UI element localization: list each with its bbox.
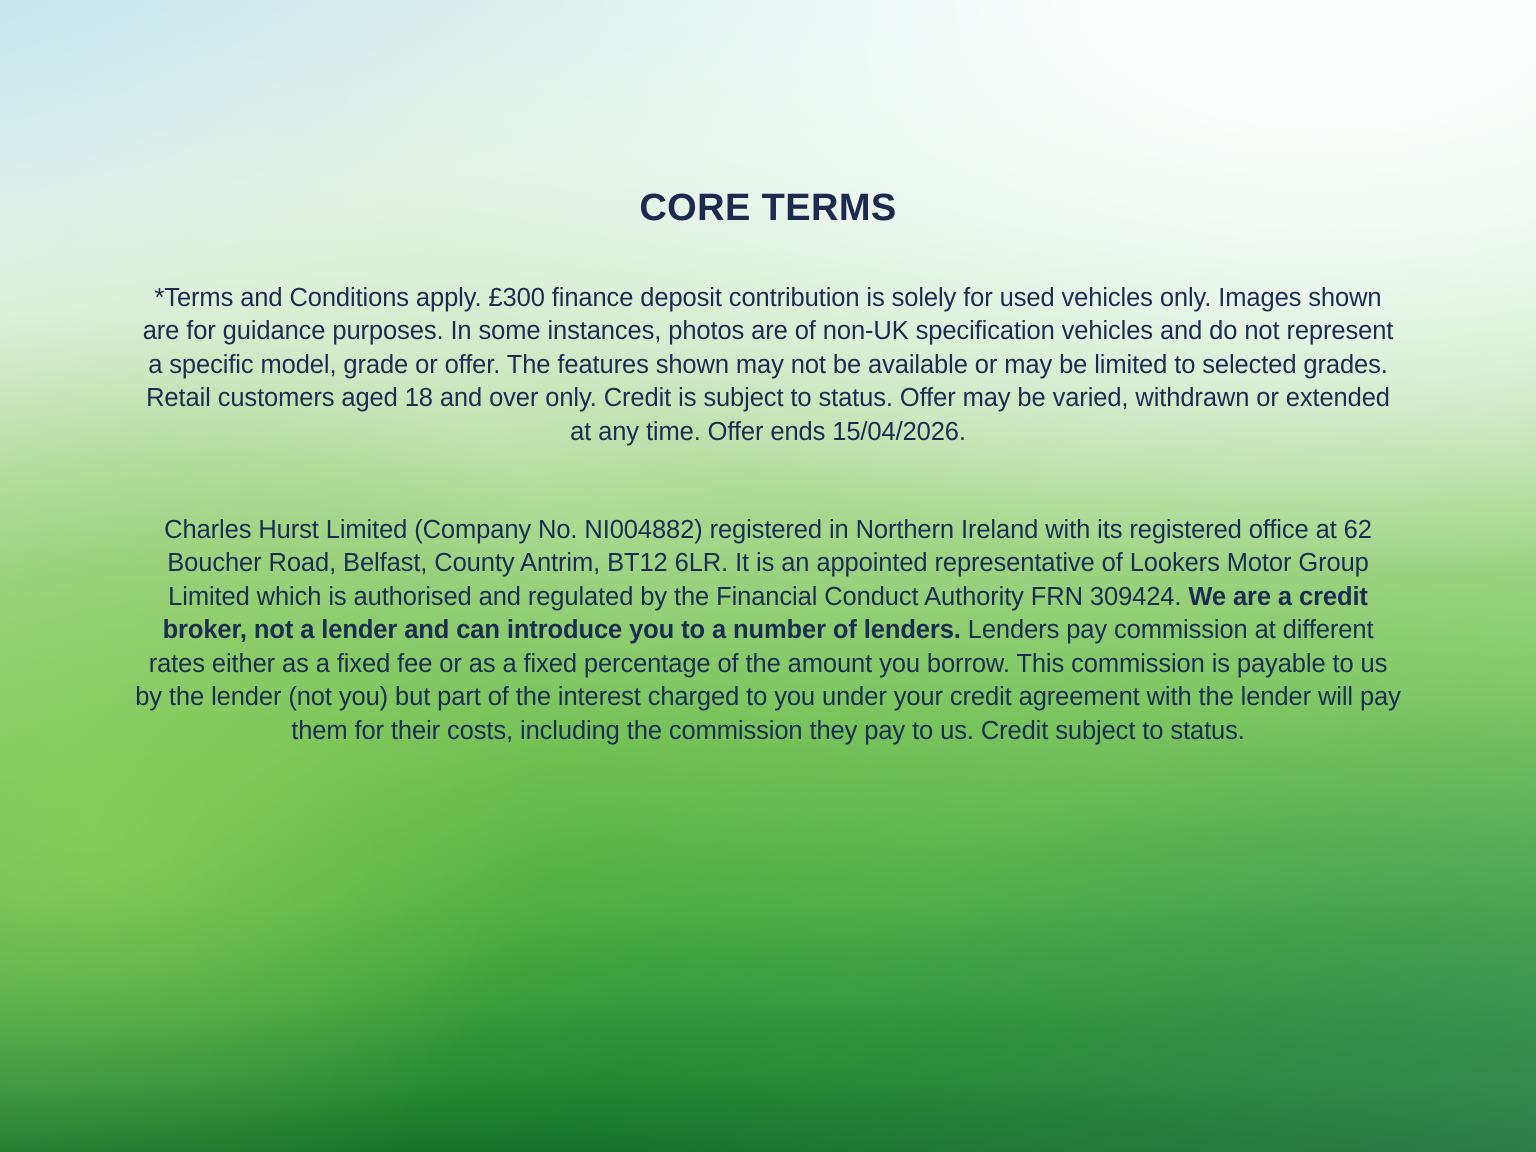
page-title: CORE TERMS — [0, 185, 1536, 231]
slide-content: CORE TERMS *Terms and Conditions apply. … — [0, 0, 1536, 1152]
terms-and-conditions-paragraph: *Terms and Conditions apply. £300 financ… — [135, 282, 1401, 450]
core-terms-slide: CORE TERMS *Terms and Conditions apply. … — [0, 0, 1536, 1152]
broker-disclosure-paragraph: Charles Hurst Limited (Company No. NI004… — [135, 514, 1401, 749]
